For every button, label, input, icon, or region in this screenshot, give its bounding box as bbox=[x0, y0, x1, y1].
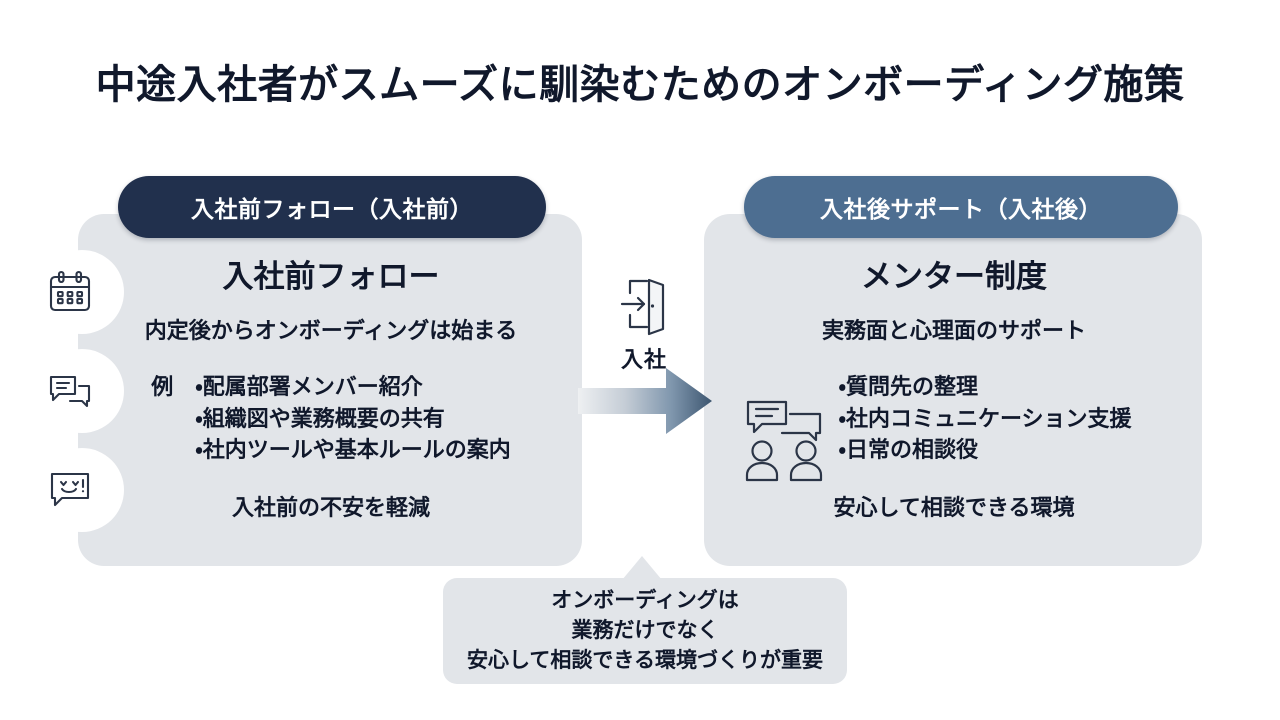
transition-group: 入社 bbox=[586, 276, 702, 396]
card-pre-bullet-list: 例 ・配属部署メンバー紹介 ・組織図や業務概要の共有 ・社内ツールや基本ルールの… bbox=[151, 371, 510, 467]
list-item: ・質問先の整理 bbox=[838, 371, 1131, 403]
two-people-chatting-icon bbox=[740, 398, 832, 484]
callout-text: オンボーディングは 業務だけでなく 安心して相談できる環境づくりが重要 bbox=[467, 586, 823, 675]
card-post-heading: メンター制度 bbox=[712, 258, 1196, 295]
list-item: ・社内ツールや基本ルールの案内 bbox=[195, 434, 510, 466]
calendar-icon bbox=[46, 268, 94, 316]
door-entry-icon bbox=[616, 276, 672, 338]
page-title: 中途入社者がスムーズに馴染むためのオンボーディング施策 bbox=[0, 62, 1280, 109]
card-pre-entry-content: 入社前フォロー 内定後からオンボーディングは始まる 例 ・配属部署メンバー紹介 … bbox=[96, 258, 566, 522]
pill-post-entry: 入社後サポート（入社後） bbox=[744, 176, 1178, 238]
smiley-speech-bubble-icon bbox=[46, 466, 94, 514]
list-item: ・配属部署メンバー紹介 bbox=[195, 371, 510, 403]
card-pre-heading: 入社前フォロー bbox=[96, 258, 566, 295]
card-pre-footnote: 入社前の不安を軽減 bbox=[96, 490, 566, 522]
card-pre-subhead: 内定後からオンボーディングは始まる bbox=[96, 317, 566, 345]
card-pre-bullet-block: 例 ・配属部署メンバー紹介 ・組織図や業務概要の共有 ・社内ツールや基本ルールの… bbox=[96, 371, 566, 467]
card-post-subhead: 実務面と心理面のサポート bbox=[712, 317, 1196, 345]
pill-pre-entry: 入社前フォロー（入社前） bbox=[118, 176, 546, 238]
list-item: ・組織図や業務概要の共有 bbox=[195, 403, 510, 435]
callout-pointer bbox=[622, 556, 662, 580]
card-pre-example-label: 例 bbox=[151, 371, 173, 403]
callout-box: オンボーディングは 業務だけでなく 安心して相談できる環境づくりが重要 bbox=[443, 578, 847, 684]
chat-bubbles-icon bbox=[46, 367, 94, 415]
list-item: ・日常の相談役 bbox=[838, 434, 1131, 466]
card-post-footnote: 安心して相談できる環境 bbox=[712, 490, 1196, 522]
list-item: ・社内コミュニケーション支援 bbox=[838, 403, 1131, 435]
transition-label: 入社 bbox=[586, 342, 702, 374]
slide-canvas: 中途入社者がスムーズに馴染むためのオンボーディング施策 入社前フォロー（入社前）… bbox=[0, 0, 1280, 720]
